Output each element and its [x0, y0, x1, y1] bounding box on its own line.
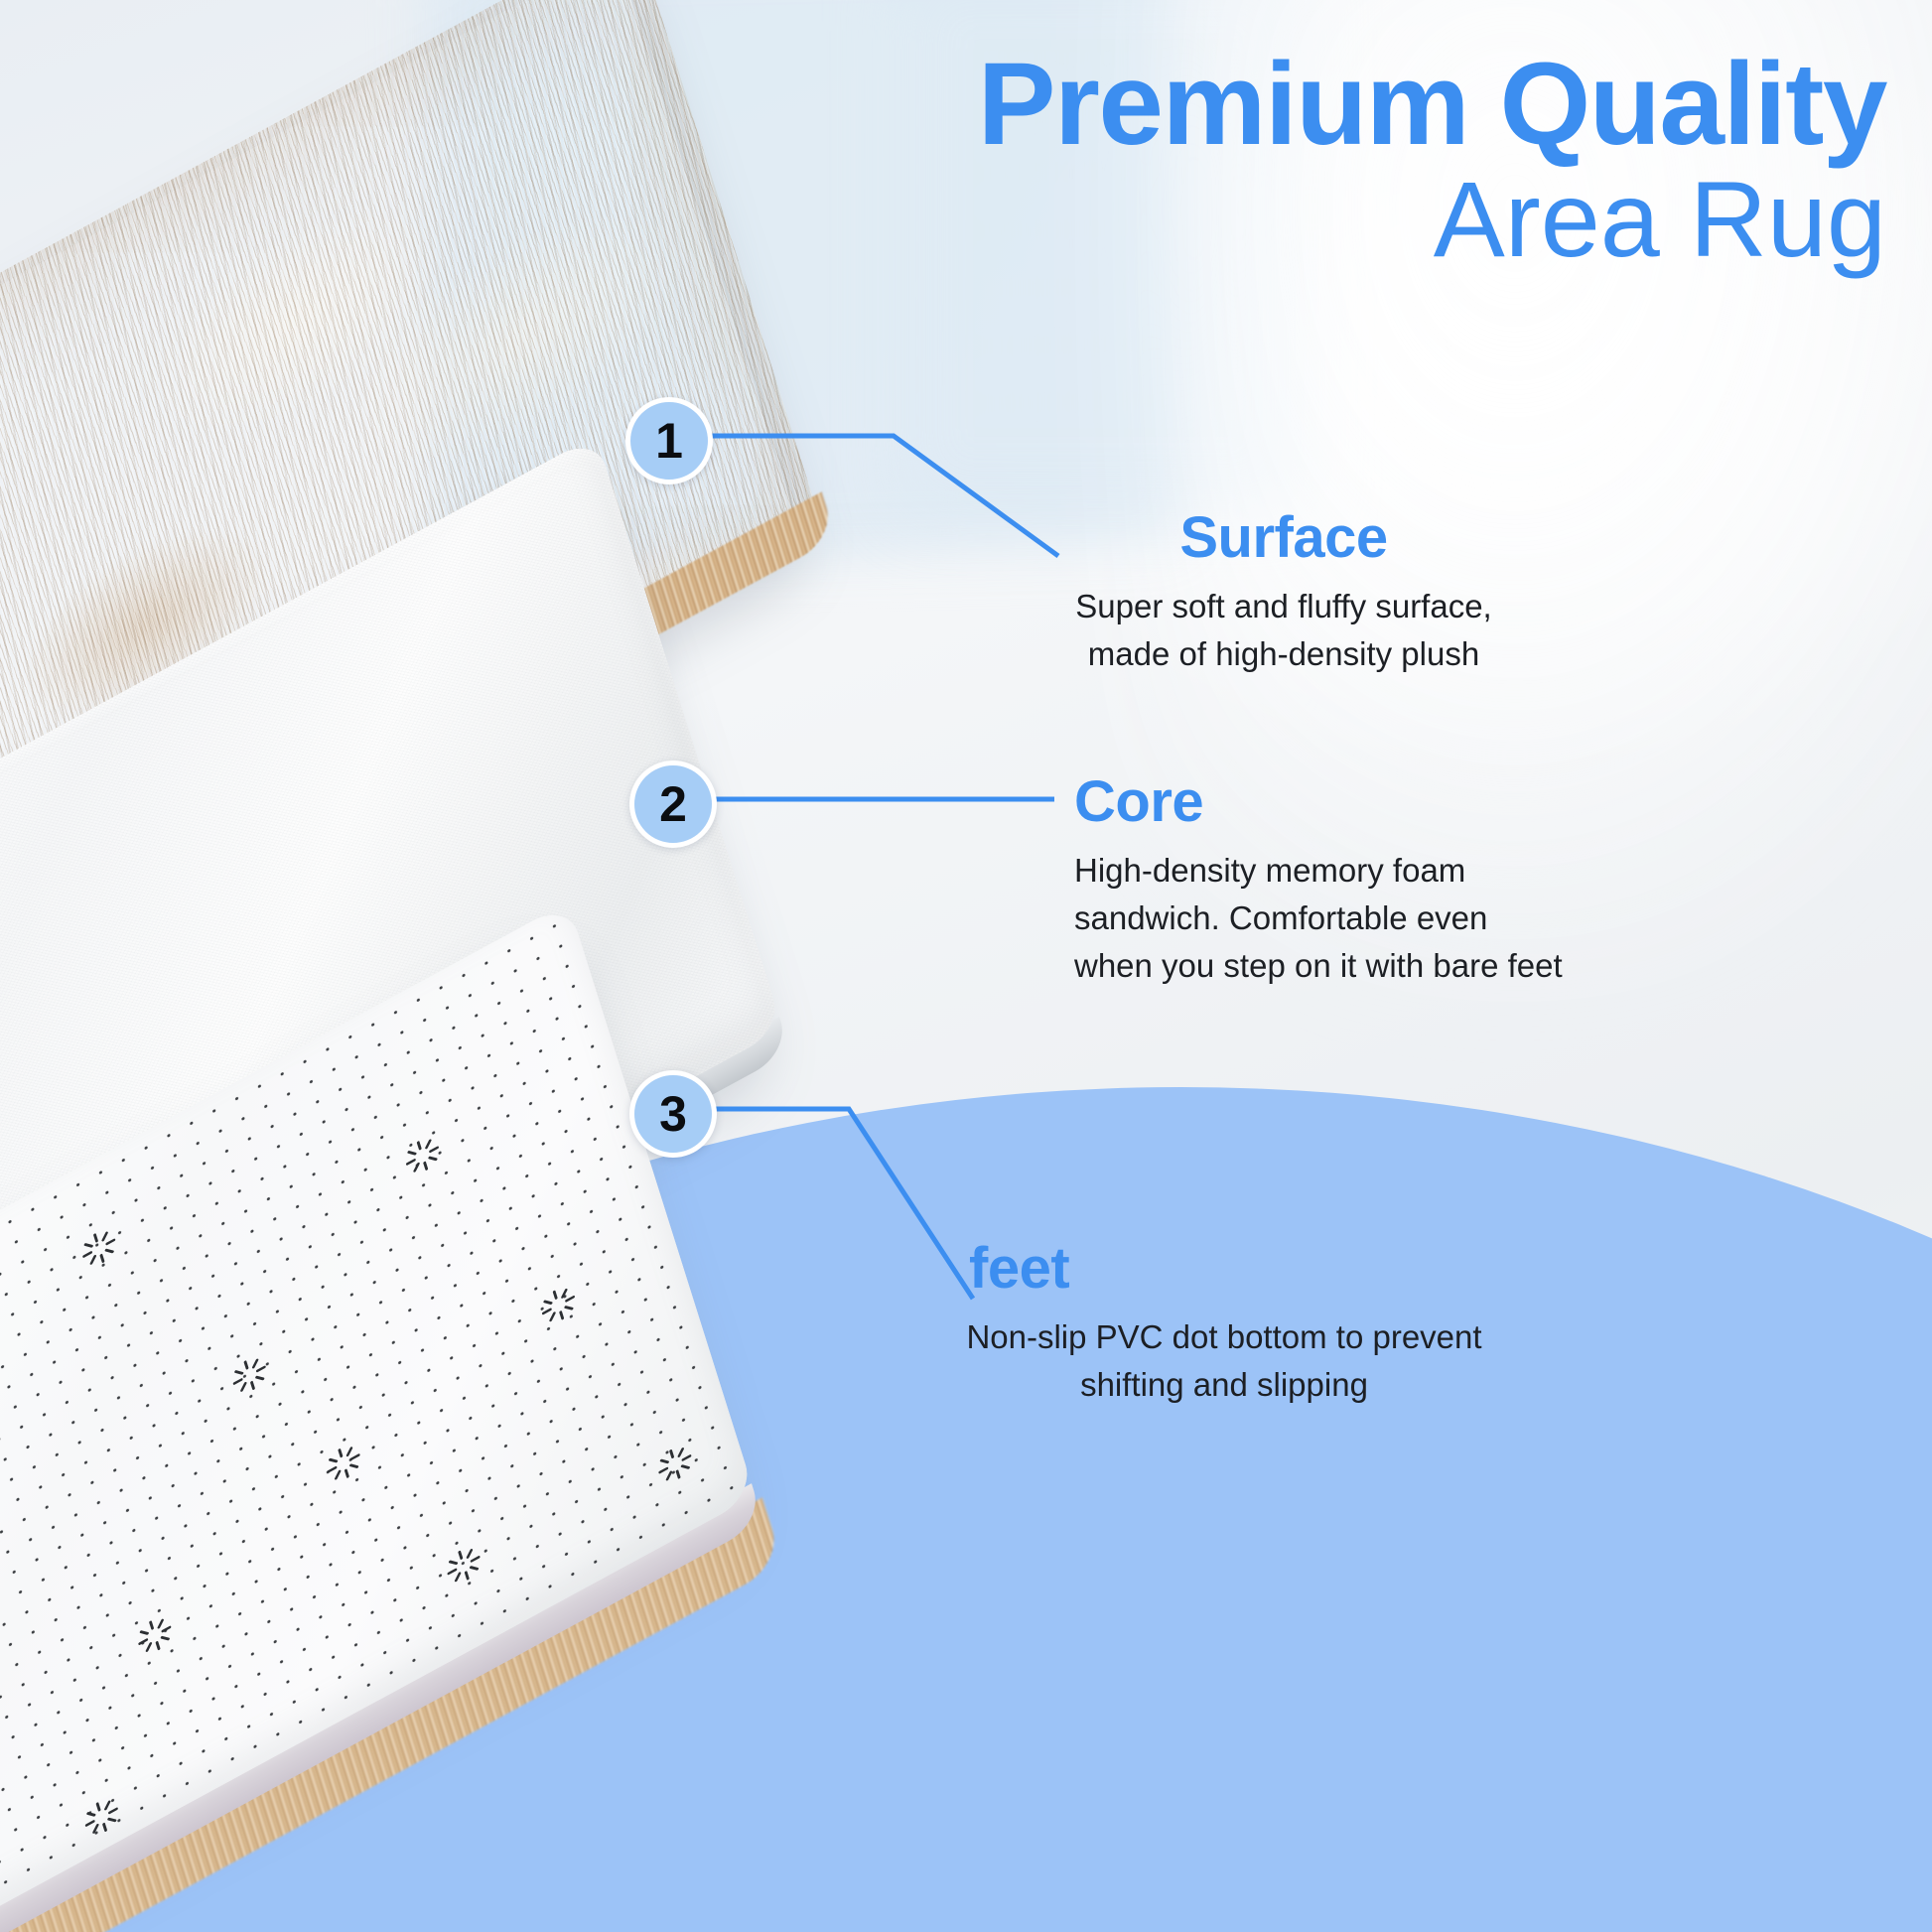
callout-core-body: High-density memory foam sandwich. Comfo…	[1074, 847, 1868, 990]
callout-core-heading: Core	[1074, 772, 1868, 833]
callout-core-body-line: when you step on it with bare feet	[1074, 942, 1868, 990]
callout-surface-body-line: made of high-density plush	[1070, 630, 1497, 678]
callout-badge-2[interactable]: 2	[629, 760, 717, 848]
callout-feet: feet Non-slip PVC dot bottom to prevent …	[961, 1239, 1487, 1409]
callout-feet-body-line: Non-slip PVC dot bottom to prevent	[961, 1313, 1487, 1361]
callout-surface: Surface Super soft and fluffy surface, m…	[1070, 508, 1497, 678]
callout-surface-heading: Surface	[1070, 508, 1497, 569]
leader-line-1	[711, 436, 1058, 556]
callout-feet-body: Non-slip PVC dot bottom to prevent shift…	[961, 1313, 1487, 1409]
callout-surface-body-line: Super soft and fluffy surface,	[1070, 583, 1497, 630]
product-infographic: Premium Quality Area Rug	[0, 0, 1932, 1932]
callout-surface-body: Super soft and fluffy surface, made of h…	[1070, 583, 1497, 678]
callout-feet-heading: feet	[961, 1239, 1487, 1300]
callout-core-body-line: sandwich. Comfortable even	[1074, 895, 1868, 942]
callout-core: Core High-density memory foam sandwich. …	[1074, 772, 1868, 989]
leader-line-3	[713, 1109, 973, 1299]
callout-core-body-line: High-density memory foam	[1074, 847, 1868, 895]
callout-feet-body-line: shifting and slipping	[961, 1361, 1487, 1409]
callout-badge-1[interactable]: 1	[625, 397, 713, 484]
callout-badge-3[interactable]: 3	[629, 1070, 717, 1158]
